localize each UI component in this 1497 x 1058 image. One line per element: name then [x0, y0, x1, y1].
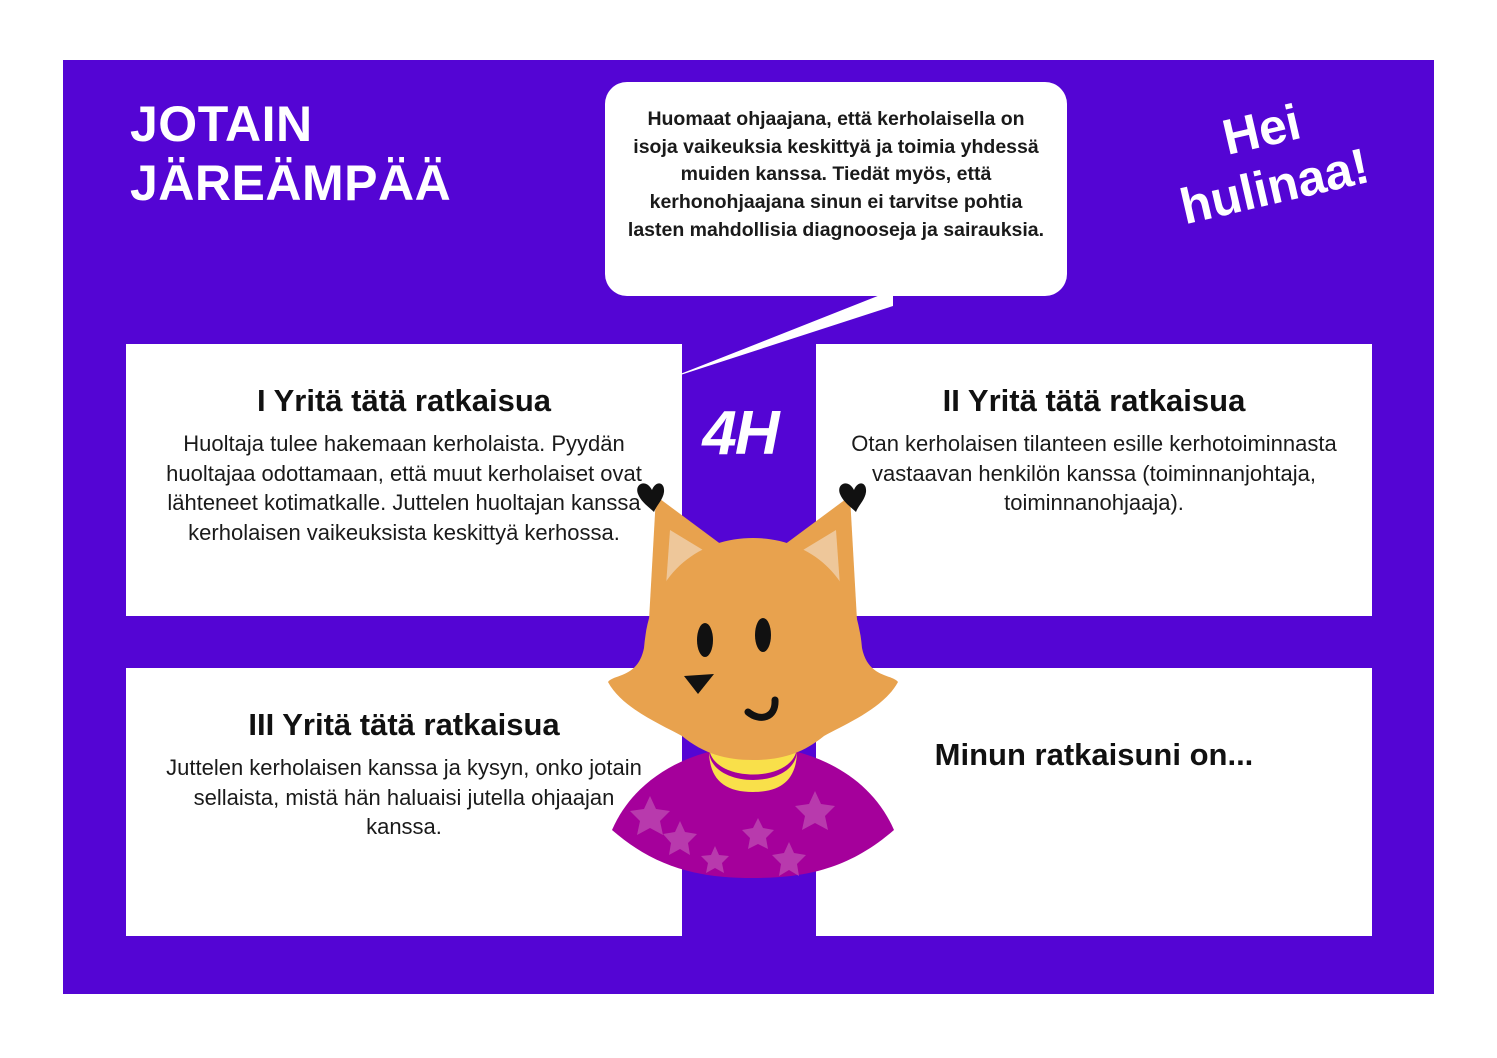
- card-solution-3[interactable]: III Yritä tätä ratkaisua Juttelen kerhol…: [126, 668, 682, 936]
- fox-mascot-icon: [608, 478, 898, 878]
- page-title: JOTAIN JÄREÄMPÄÄ: [130, 95, 650, 213]
- card-body-1: Huoltaja tulee hakemaan kerholaista. Pyy…: [156, 429, 652, 547]
- card-title-2: II Yritä tätä ratkaisua: [846, 382, 1342, 419]
- poster-canvas: JOTAIN JÄREÄMPÄÄ Hei hulinaa! Huomaat oh…: [0, 0, 1497, 1058]
- logo-4h: 4H: [680, 398, 800, 470]
- card-title-1: I Yritä tätä ratkaisua: [156, 382, 652, 419]
- card-solution-1[interactable]: I Yritä tätä ratkaisua Huoltaja tulee ha…: [126, 344, 682, 616]
- card-my-solution[interactable]: Minun ratkaisuni on...: [816, 668, 1372, 936]
- fox-eye-right: [755, 618, 771, 652]
- speech-bubble-body: Huomaat ohjaajana, että kerholaisella on…: [605, 82, 1067, 296]
- fox-eye-left: [697, 623, 713, 657]
- speech-bubble: Huomaat ohjaajana, että kerholaisella on…: [605, 82, 1067, 372]
- speech-bubble-text: Huomaat ohjaajana, että kerholaisella on…: [627, 106, 1045, 244]
- card-body-2: Otan kerholaisen tilanteen esille kerhot…: [846, 429, 1342, 517]
- card-title-4: Minun ratkaisuni on...: [846, 736, 1342, 773]
- fox-head: [608, 538, 898, 760]
- card-body-3: Juttelen kerholaisen kanssa ja kysyn, on…: [156, 753, 652, 841]
- card-solution-2[interactable]: II Yritä tätä ratkaisua Otan kerholaisen…: [816, 344, 1372, 616]
- card-title-3: III Yritä tätä ratkaisua: [156, 706, 652, 743]
